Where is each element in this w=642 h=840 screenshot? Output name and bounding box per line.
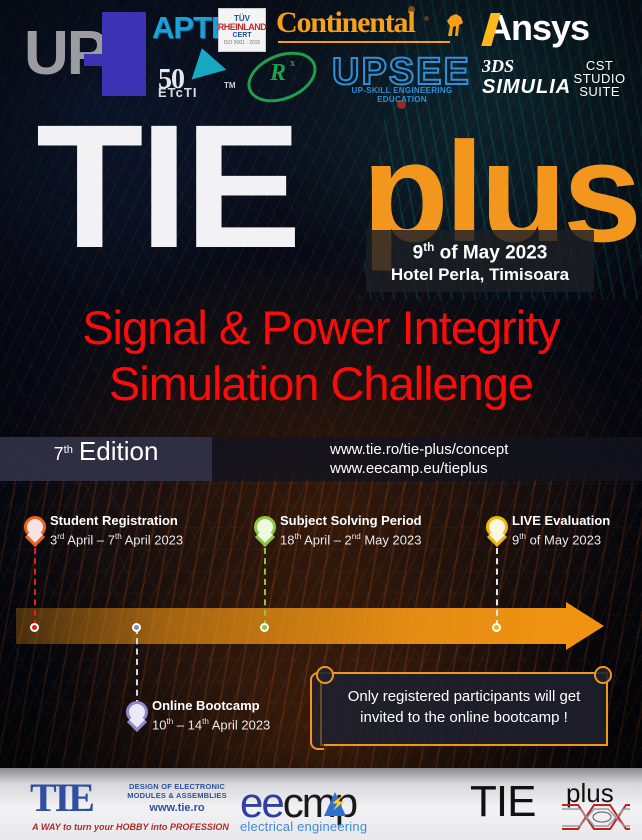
map-pin-icon [126,701,148,731]
milestone-leader-line [34,548,36,626]
callout-box: Only registered participants will get in… [320,672,608,746]
poster-title: TIE plus [36,112,298,262]
milestone-leader-line [496,548,498,626]
tieplus-tie: TIE [470,777,535,826]
event-date-ordinal: th [423,241,434,254]
event-date-rest: of May 2023 [434,242,547,263]
tuv-line4: ISO 9001 : 2015 [224,40,260,46]
continental-horse-icon [444,12,466,38]
tie-url[interactable]: www.tie.ro [124,802,230,814]
edition-badge: 7th Edition [0,437,212,481]
event-venue: Hotel Perla, Timisoara [391,264,569,285]
title-tie: TIE [36,89,298,285]
edition-number-value: 7 [54,444,64,464]
ansys-text: Ansys [486,10,589,46]
simulia-ds: 3DS [482,56,514,76]
poster-urls: www.tie.ro/tie-plus/concept www.eecamp.e… [330,440,630,478]
url-eecamp[interactable]: www.eecamp.eu/tieplus [330,459,630,478]
callout-curl-right [594,666,612,684]
tie-description: DESIGN OF ELECTRONICMODULES & ASSEMBLIES [124,782,230,800]
event-date-day: 9 [413,242,424,263]
milestone-end-dot [132,623,141,632]
tie-wordmark: TIE [30,775,93,820]
callout-curl-left [316,666,334,684]
timeline-arrow-body [16,608,568,644]
milestone-date: 3rd April – 7th April 2023 [50,529,183,548]
r-letter: R [270,61,286,85]
milestone-leader-line [136,628,138,706]
url-tie-ro[interactable]: www.tie.ro/tie-plus/concept [330,440,630,459]
subtitle-line-2: Simulation Challenge [0,356,642,412]
map-pin-icon [254,516,276,546]
tie-tagline: A WAY to turn your HOBBY into PROFESSION [28,822,233,833]
edition-number: 7th [54,440,73,464]
eecamp-bolt-glyph: ⚡ [330,796,346,809]
upsee-tagline: UP-SKILL ENGINEERING EDUCATION [332,86,472,104]
callout-line-2: invited to the online bootcamp ! [360,709,568,726]
map-pin-icon [486,516,508,546]
milestone-end-dot [260,623,269,632]
footer-logo-tie: TIE DESIGN OF ELECTRONICMODULES & ASSEMB… [30,778,230,834]
simulia-text: SIMULIA [482,76,571,98]
callout-line-1: Only registered participants will get [348,688,581,705]
eye-diagram-icon [562,802,630,832]
milestone-title: LIVE Evaluation [512,513,610,529]
milestone-date: 9th of May 2023 [512,529,610,548]
tuv-line2: CERT [232,32,251,40]
tuv-line3: RHEINLAND [218,23,267,32]
footer-logo-eecamp: eecmp ⚡ electrical engineering [240,782,424,834]
edition-number-ordinal: th [64,444,73,456]
milestone-date: 18th April – 2nd May 2023 [280,529,422,548]
milestone-end-dot [30,623,39,632]
subtitle-line-1: Signal & Power Integrity [0,300,642,356]
simulia-product: CST STUDIO SUITE [571,59,628,98]
upt-t-block [102,12,146,96]
event-date-line1: 9th of May 2023 [413,237,548,264]
milestone-date: 10th – 14th April 2023 [152,714,270,733]
milestone-title: Subject Solving Period [280,513,422,529]
logo-continental: Continental [276,8,415,38]
timeline-arrow [16,608,604,644]
logo-upt: UP [24,10,148,98]
r-exponent: x [290,59,295,69]
upt-t-notch [84,54,104,66]
continental-underline [278,41,450,43]
map-pin-icon [24,516,46,546]
milestone-end-dot [492,623,501,632]
logo-simulia: 3DS SIMULIA CST STUDIO SUITE [482,56,628,98]
milestone-title: Online Bootcamp [152,698,270,714]
timeline-arrow-head [566,602,604,650]
logo-ansys: Ansys [486,10,589,46]
poster-root: UP APTE TÜV RHEINLAND CERT ISO 9001 : 20… [0,0,642,840]
footer-logo-tieplus: TIE plus [470,780,630,836]
logo-tuv-cert: TÜV RHEINLAND CERT ISO 9001 : 2015 [218,8,266,52]
edition-label: Edition [79,437,159,465]
milestone-leader-line [264,548,266,626]
callout-text: Only registered participants will get in… [322,674,606,728]
eecamp-tagline: electrical engineering [240,820,424,834]
event-date-box: 9th of May 2023 Hotel Perla, Timisoara [366,230,594,292]
poster-subtitle: Signal & Power Integrity Simulation Chal… [0,300,642,412]
logo-upsee: UPSEE UP-SKILL ENGINEERING EDUCATION [332,46,472,98]
milestone-title: Student Registration [50,513,183,529]
continental-text: Continental [276,8,415,38]
